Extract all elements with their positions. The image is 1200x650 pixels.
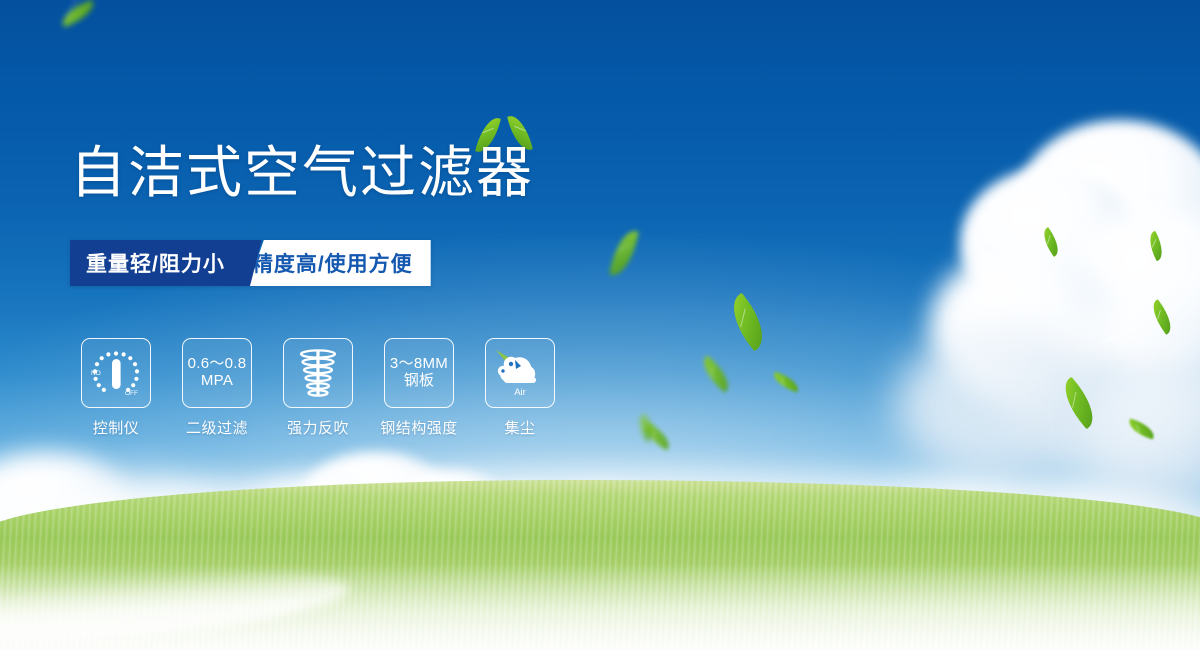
feature-item-strong-backblow[interactable]: 强力反吹 xyxy=(282,338,354,438)
pressure-range: 0.6～0.8 xyxy=(188,355,247,372)
filter-coil-icon xyxy=(290,345,346,401)
steel-thickness: 3～8MM xyxy=(390,355,448,372)
feature-item-control-instrument[interactable]: NO OFF 控制仪 xyxy=(80,338,152,438)
feature-icon-box: 0.6～0.8 MPA xyxy=(182,338,252,408)
feature-icon-box xyxy=(283,338,353,408)
pressure-unit: MPA xyxy=(188,373,247,390)
subtitle-bar: 重量轻/阻力小 精度高/使用方便 xyxy=(70,240,431,286)
feature-icon-box: Air xyxy=(485,338,555,408)
page-title: 自洁式空气过滤器 xyxy=(70,145,534,201)
feature-item-dust-collection[interactable]: Air 集尘 xyxy=(484,338,556,438)
steel-plate-value-icon: 3～8MM 钢板 xyxy=(390,356,448,390)
feature-item-steel-strength[interactable]: 3～8MM 钢板 钢结构强度 xyxy=(383,338,455,438)
cloud-air-caption: Air xyxy=(514,387,526,398)
pressure-value-icon: 0.6～0.8 MPA xyxy=(188,356,247,390)
gauge-dial-icon: NO OFF xyxy=(85,342,147,404)
feature-label: 钢结构强度 xyxy=(380,417,458,438)
gauge-off-label: OFF xyxy=(125,390,138,397)
product-banner: 自洁式空气过滤器 重量轻/阻力小 精度高/使用方便 xyxy=(0,0,1200,650)
feature-label: 强力反吹 xyxy=(287,417,349,438)
subtitle-left-badge: 重量轻/阻力小 xyxy=(70,240,241,286)
feature-label: 控制仪 xyxy=(93,417,140,438)
cloud-air-icon: Air xyxy=(490,344,550,402)
feature-label: 集尘 xyxy=(504,417,535,438)
steel-material: 钢板 xyxy=(390,373,448,390)
feature-icon-box: 3～8MM 钢板 xyxy=(384,338,454,408)
feature-icon-box: NO OFF xyxy=(81,338,151,408)
subtitle-right-badge: 精度高/使用方便 xyxy=(248,240,431,286)
feature-label: 二级过滤 xyxy=(186,417,248,438)
gauge-on-label: NO xyxy=(91,370,101,377)
feature-list: NO OFF 控制仪 0.6～0.8 MPA 二级过滤 xyxy=(80,338,556,438)
feature-item-secondary-filter[interactable]: 0.6～0.8 MPA 二级过滤 xyxy=(181,338,253,438)
grass-field xyxy=(0,480,1200,650)
